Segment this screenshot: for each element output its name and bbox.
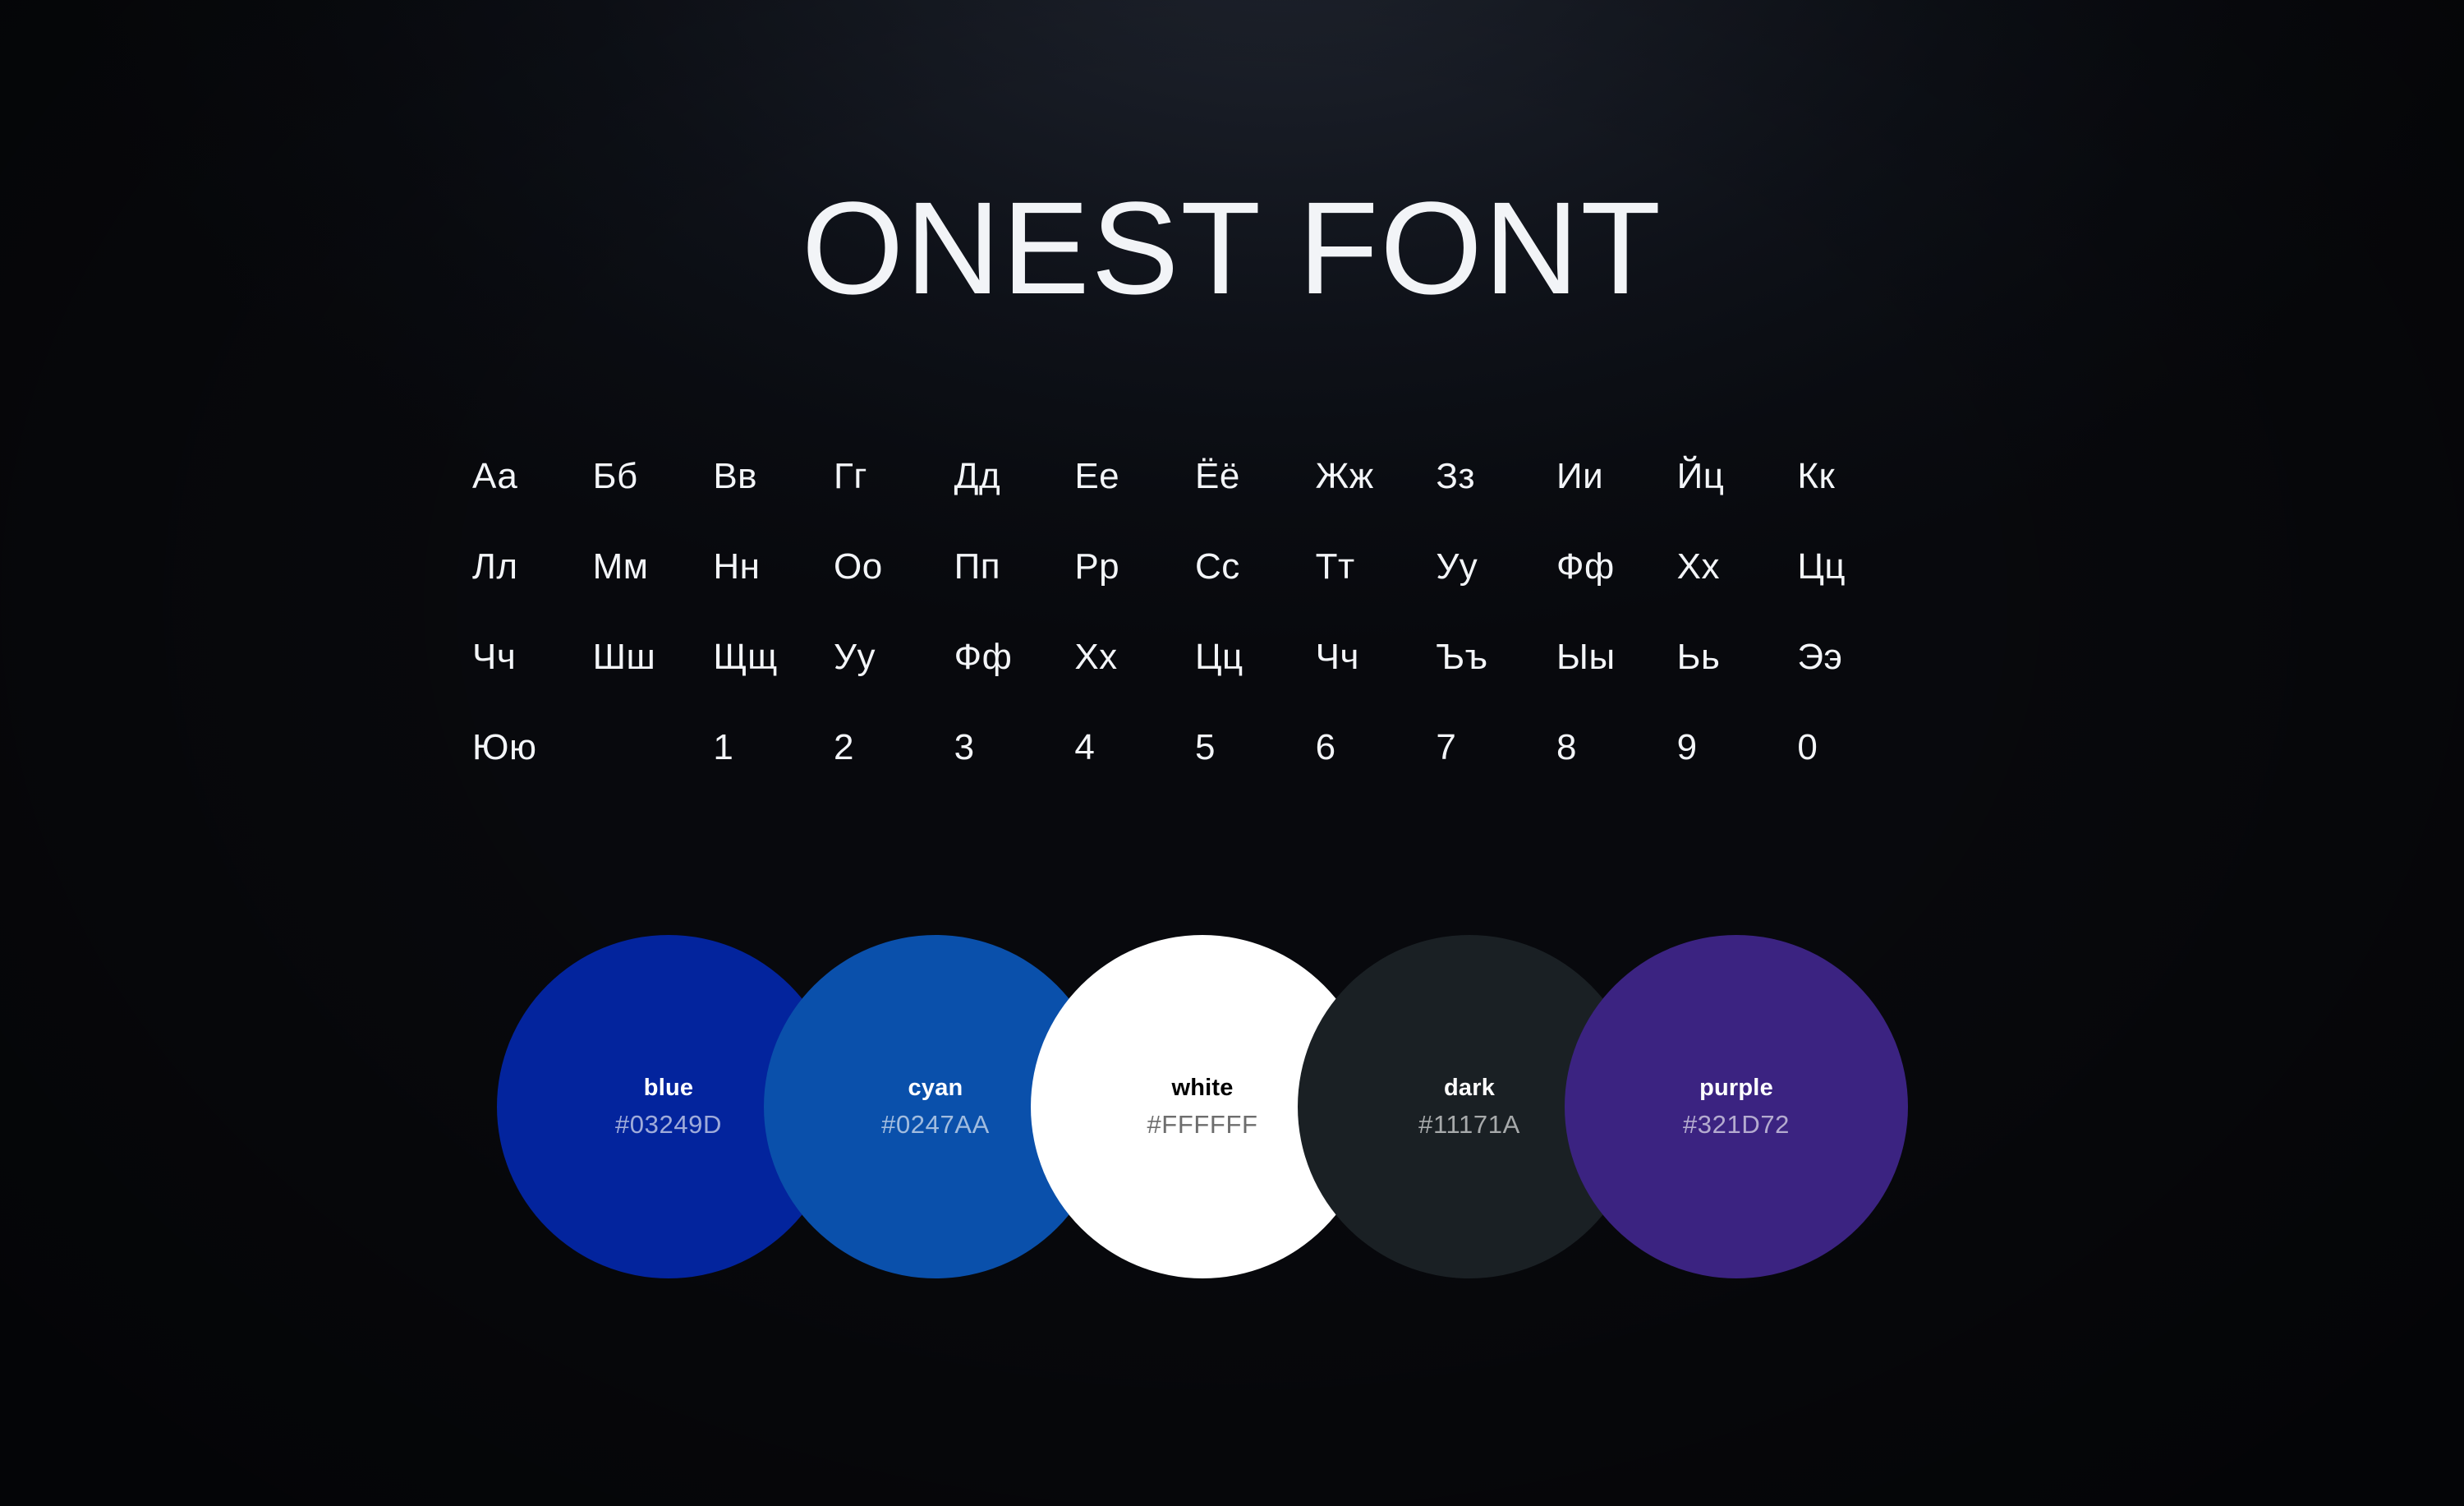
- glyph-cell: Ёё: [1195, 458, 1240, 495]
- glyph-cell: Нн: [713, 549, 760, 585]
- glyph-cell: Ьь: [1677, 639, 1721, 675]
- glyph-cell: 5: [1195, 730, 1216, 766]
- glyph-cell: 9: [1677, 730, 1698, 766]
- glyph-cell: Тт: [1316, 549, 1355, 585]
- color-swatch-purple[interactable]: purple#321D72: [1565, 935, 1908, 1278]
- glyph-cell: 7: [1436, 730, 1456, 766]
- color-swatch-name: purple: [1699, 1076, 1773, 1100]
- glyph-cell: Юю: [472, 730, 536, 766]
- glyph-cell: 6: [1316, 730, 1336, 766]
- glyph-cell: 3: [954, 730, 975, 766]
- glyph-cell: Ыы: [1556, 639, 1616, 675]
- glyph-cell: Кк: [1797, 458, 1835, 495]
- font-specimen-page: ONEST FONT АаБбВвГгДдЕеЁёЖжЗзИиЙцКкЛлМмН…: [0, 0, 2464, 1506]
- color-swatch-name: cyan: [908, 1076, 963, 1100]
- glyph-cell: Вв: [713, 458, 757, 495]
- glyph-cell: 8: [1556, 730, 1577, 766]
- glyph-cell: 2: [834, 730, 854, 766]
- glyph-cell: Чч: [1316, 639, 1359, 675]
- color-swatch-hex: #FFFFFF: [1147, 1112, 1257, 1137]
- color-swatch-hex: #0247AA: [881, 1112, 990, 1137]
- glyph-cell: Ъъ: [1436, 639, 1487, 675]
- glyph-cell: Рр: [1074, 549, 1119, 585]
- glyph-cell: Цц: [1195, 639, 1243, 675]
- glyph-cell: Гг: [834, 458, 867, 495]
- glyph-cell: 4: [1074, 730, 1095, 766]
- color-swatch-name: blue: [644, 1076, 693, 1100]
- glyph-cell: Хх: [1074, 639, 1117, 675]
- glyph-cell: Бб: [593, 458, 638, 495]
- glyph-cell: Уу: [834, 639, 876, 675]
- color-swatch-hex: #03249D: [615, 1112, 722, 1137]
- glyph-cell: Фф: [1556, 549, 1615, 585]
- color-swatch-name: dark: [1444, 1076, 1495, 1100]
- glyph-cell: Уу: [1436, 549, 1478, 585]
- color-swatch-name: white: [1171, 1076, 1233, 1100]
- glyph-cell: Цц: [1797, 549, 1846, 585]
- glyph-cell: Лл: [472, 549, 518, 585]
- glyph-cell: Хх: [1677, 549, 1720, 585]
- glyph-cell: Дд: [954, 458, 1000, 495]
- color-swatch-hex: #11171A: [1418, 1112, 1520, 1137]
- color-palette: blue#03249Dcyan#0247AAwhite#FFFFFFdark#1…: [0, 935, 2464, 1280]
- glyph-cell: Жж: [1316, 458, 1374, 495]
- page-title: ONEST FONT: [0, 182, 2464, 314]
- glyph-cell: Оо: [834, 549, 883, 585]
- glyph-cell: Аа: [472, 458, 517, 495]
- glyph-cell: Ии: [1556, 458, 1603, 495]
- glyph-cell: Сс: [1195, 549, 1240, 585]
- glyph-cell: Фф: [954, 639, 1013, 675]
- glyph-cell: Пп: [954, 549, 1000, 585]
- glyph-cell: Щщ: [713, 639, 777, 675]
- glyph-cell: Шш: [593, 639, 656, 675]
- color-swatch-hex: #321D72: [1683, 1112, 1790, 1137]
- glyph-cell: Мм: [593, 549, 649, 585]
- glyph-cell: Ээ: [1797, 639, 1842, 675]
- glyph-cell: Чч: [472, 639, 516, 675]
- alphabet-grid: АаБбВвГгДдЕеЁёЖжЗзИиЙцКкЛлМмНнОоПпРрСсТт…: [472, 431, 1918, 793]
- glyph-cell: 1: [713, 730, 733, 766]
- glyph-cell: Ее: [1074, 458, 1119, 495]
- glyph-cell: Зз: [1436, 458, 1475, 495]
- glyph-cell: Йц: [1677, 458, 1725, 495]
- glyph-cell: 0: [1797, 730, 1818, 766]
